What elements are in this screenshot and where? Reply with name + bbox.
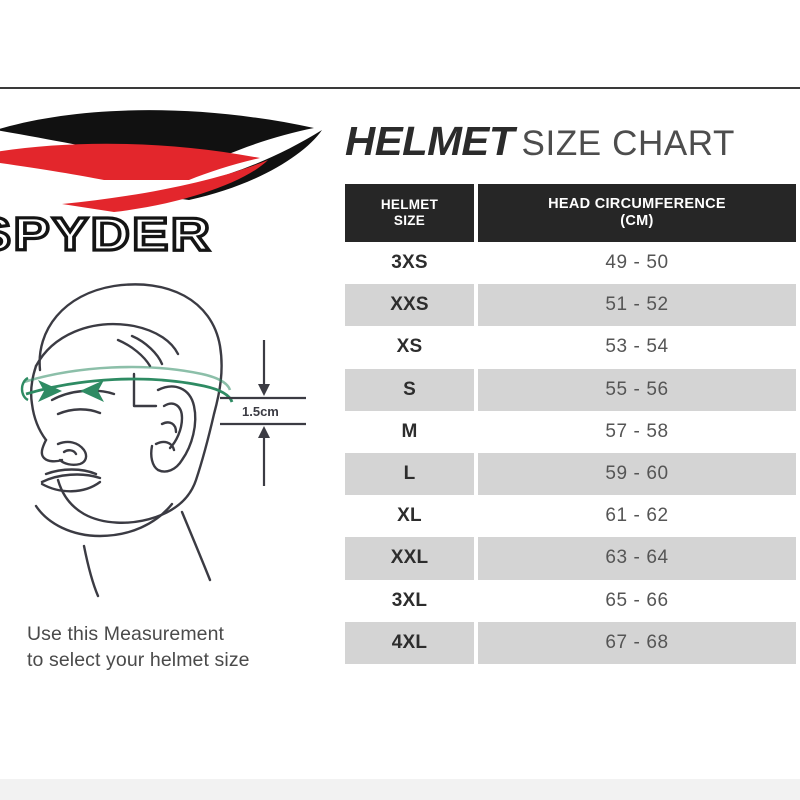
cell-size: 4XL [345, 622, 474, 664]
title-size-chart: SIZE CHART [522, 124, 735, 164]
spyder-wordmark-text: SPYDER [0, 210, 212, 260]
brand-and-diagram-panel: SPYDER [0, 92, 338, 692]
table-header-row: HELMET SIZE HEAD CIRCUMFERENCE (CM) [345, 184, 796, 242]
size-value: 4XL [392, 632, 427, 654]
cell-size: M [345, 411, 474, 453]
cell-size: XXS [345, 284, 474, 326]
cell-size: XL [345, 495, 474, 537]
header-helmet-size-line1: HELMET [381, 197, 438, 213]
circumference-value: 57 - 58 [605, 421, 668, 443]
page-title: HELMET SIZE CHART [345, 118, 797, 166]
cell-circumference: 57 - 58 [478, 411, 796, 453]
table-row: XXS 51 - 52 [345, 284, 796, 326]
size-value: XL [397, 505, 422, 527]
spyder-swoosh-logo-icon [0, 100, 334, 220]
cell-size: XXL [345, 537, 474, 579]
circumference-value: 53 - 54 [605, 336, 668, 358]
table-row: L 59 - 60 [345, 453, 796, 495]
size-value: XS [397, 336, 423, 358]
cell-size: 3XL [345, 580, 474, 622]
header-circumference-line1: HEAD CIRCUMFERENCE [548, 196, 726, 213]
header-cell-helmet-size: HELMET SIZE [345, 184, 474, 242]
size-value: L [404, 463, 416, 485]
cell-circumference: 63 - 64 [478, 537, 796, 579]
circumference-value: 67 - 68 [605, 632, 668, 654]
cell-circumference: 59 - 60 [478, 453, 796, 495]
bottom-letterbox-band [0, 779, 800, 800]
size-value: 3XS [391, 252, 428, 274]
cell-circumference: 67 - 68 [478, 622, 796, 664]
table-row: 3XS 49 - 50 [345, 242, 796, 284]
cell-circumference: 55 - 56 [478, 369, 796, 411]
head-measurement-diagram: 1.5cm [6, 274, 326, 604]
header-circumference-line2: (CM) [620, 213, 653, 230]
dimension-label: 1.5cm [242, 404, 279, 419]
caption-line-1: Use this Measurement [27, 622, 327, 648]
circumference-value: 55 - 56 [605, 379, 668, 401]
cell-size: L [345, 453, 474, 495]
circumference-value: 63 - 64 [605, 547, 668, 569]
cell-size: S [345, 369, 474, 411]
header-cell-head-circumference: HEAD CIRCUMFERENCE (CM) [478, 184, 796, 242]
measuring-tape-line [22, 367, 232, 402]
cell-size: 3XS [345, 242, 474, 284]
cell-circumference: 51 - 52 [478, 284, 796, 326]
measurement-caption: Use this Measurement to select your helm… [27, 622, 327, 673]
size-chart-canvas: SPYDER [0, 0, 800, 800]
size-value: 3XL [392, 590, 427, 612]
table-row: 3XL 65 - 66 [345, 580, 796, 622]
top-divider-rule [0, 87, 800, 89]
spyder-wordmark: SPYDER [0, 210, 332, 262]
table-row: S 55 - 56 [345, 369, 796, 411]
title-helmet: HELMET [345, 118, 514, 165]
circumference-value: 65 - 66 [605, 590, 668, 612]
helmet-size-table: HELMET SIZE HEAD CIRCUMFERENCE (CM) 3XS … [345, 184, 796, 664]
cell-circumference: 49 - 50 [478, 242, 796, 284]
circumference-value: 59 - 60 [605, 463, 668, 485]
circumference-value: 49 - 50 [605, 252, 668, 274]
size-value: XXL [391, 547, 429, 569]
table-row: M 57 - 58 [345, 411, 796, 453]
table-row: XS 53 - 54 [345, 326, 796, 368]
size-value: XXS [390, 294, 429, 316]
circumference-value: 61 - 62 [605, 505, 668, 527]
size-value: M [401, 421, 417, 443]
cell-circumference: 65 - 66 [478, 580, 796, 622]
table-row: XXL 63 - 64 [345, 537, 796, 579]
table-row: XL 61 - 62 [345, 495, 796, 537]
circumference-value: 51 - 52 [605, 294, 668, 316]
header-helmet-size-line2: SIZE [394, 213, 425, 229]
table-row: 4XL 67 - 68 [345, 622, 796, 664]
cell-circumference: 53 - 54 [478, 326, 796, 368]
cell-size: XS [345, 326, 474, 368]
size-value: S [403, 379, 416, 401]
caption-line-2: to select your helmet size [27, 648, 327, 674]
cell-circumference: 61 - 62 [478, 495, 796, 537]
